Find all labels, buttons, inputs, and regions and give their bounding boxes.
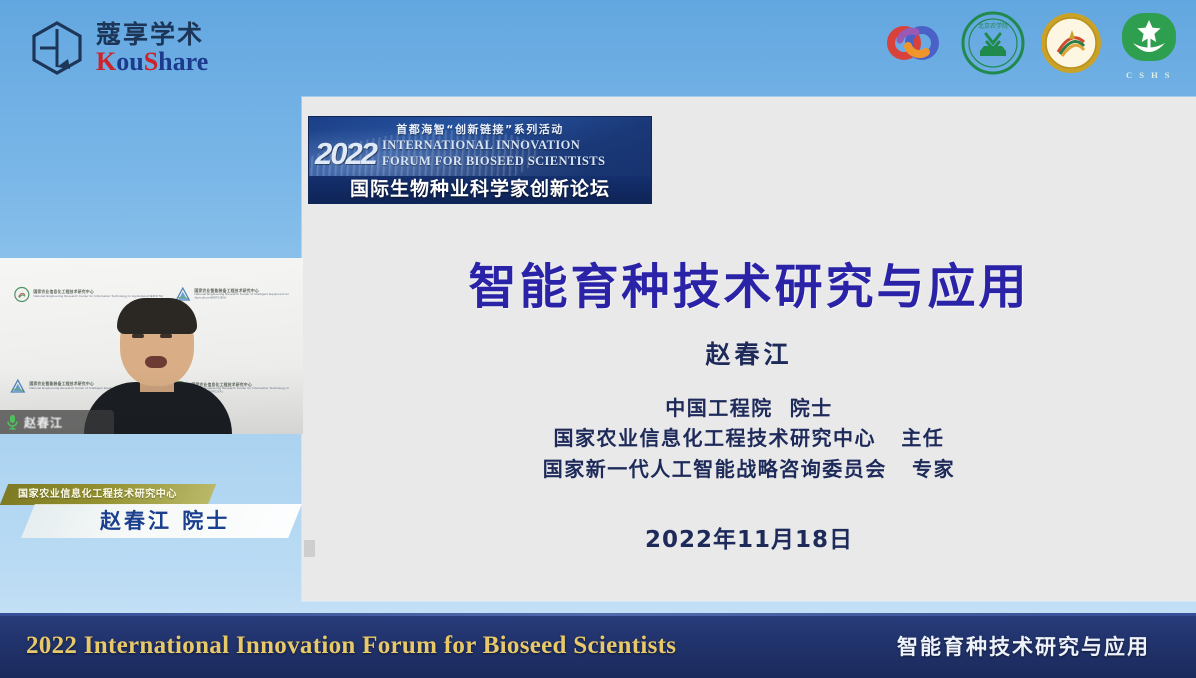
- brand-en-ou: ou: [116, 47, 143, 76]
- svg-text:北京农学院: 北京农学院: [978, 22, 1008, 30]
- banner-top-line: 首都海智“创新链接”系列活动: [309, 117, 651, 137]
- banner-en-line2: FORUM FOR BIOSEED SCIENTISTS: [382, 154, 647, 169]
- nercita-green-seal-icon: [14, 287, 30, 303]
- footer-bar: 2022 International Innovation Forum for …: [0, 613, 1196, 678]
- brand-en-hare: hare: [158, 47, 208, 76]
- nerciea-blue-triangle-icon: [10, 379, 26, 395]
- affiliation-line-3: 国家新一代人工智能战略咨询委员会 专家: [302, 454, 1196, 484]
- lower-third-name-title: 赵春江 院士: [100, 504, 230, 538]
- brand-name-en: KouShare: [96, 49, 208, 75]
- presentation-slide[interactable]: 首都海智“创新链接”系列活动 2022 INTERNATIONAL INNOVA…: [302, 97, 1196, 601]
- video-player-stage: 蔻享学术 KouShare 北京农学院: [0, 0, 1196, 678]
- brand-name-cn: 蔻享学术: [96, 22, 208, 47]
- koushare-hexagon-icon: [28, 19, 86, 77]
- microphone-icon: [6, 414, 19, 430]
- beijing-university-of-agriculture-logo: 北京农学院: [960, 10, 1026, 76]
- affiliation-line-1: 中国工程院 院士: [302, 393, 1196, 423]
- footer-english-title: 2022 International Innovation Forum for …: [26, 632, 676, 660]
- affiliation-line-2: 国家农业信息化工程技术研究中心 主任: [302, 423, 1196, 453]
- banner-bottom-line: 国际生物种业科学家创新论坛: [309, 176, 651, 203]
- banner-en-line1: INTERNATIONAL INNOVATION: [382, 138, 647, 153]
- slide-speaker-name: 赵春江: [302, 335, 1196, 371]
- koushare-brand: 蔻享学术 KouShare: [0, 0, 300, 96]
- slide-affiliations: 中国工程院 院士 国家农业信息化工程技术研究中心 主任 国家新一代人工智能战略咨…: [302, 393, 1196, 484]
- slide-title: 智能育种技术研究与应用: [302, 247, 1196, 317]
- footer-chinese-title: 智能育种技术研究与应用: [897, 631, 1174, 661]
- slide-edge-artifact: [304, 540, 315, 557]
- forum-banner: 首都海智“创新链接”系列活动 2022 INTERNATIONAL INNOVA…: [308, 116, 652, 204]
- webcam-panel[interactable]: 国家农业信息化工程技术研究中心 National Engineering Res…: [0, 258, 303, 434]
- partner-logo-strip: 北京农学院 C S H S: [882, 6, 1182, 80]
- webcam-name-tag: 赵春江: [0, 410, 114, 434]
- brand-en-k: K: [96, 47, 116, 76]
- webcam-participant-name: 赵春江: [24, 414, 63, 431]
- cshs-logo: C S H S: [1116, 10, 1182, 76]
- brand-en-s: S: [144, 47, 158, 76]
- banner-year: 2022: [315, 138, 376, 169]
- lower-third-banner: 国家农业信息化工程技术研究中心 赵春江 院士: [0, 484, 295, 546]
- lower-third-organization: 国家农业信息化工程技术研究中心: [4, 484, 212, 505]
- cshs-caption: C S H S: [1116, 70, 1182, 80]
- colorful-link-logo: [882, 10, 948, 76]
- backdrop-logo-2-en: National Engineering Research Center of …: [194, 293, 292, 300]
- naas-golden-seal-logo: [1038, 10, 1104, 76]
- backdrop-logo-2: 国家农业智能装备工程技术研究中心 National Engineering Re…: [175, 287, 293, 303]
- slide-date: 2022年11月18日: [302, 520, 1196, 554]
